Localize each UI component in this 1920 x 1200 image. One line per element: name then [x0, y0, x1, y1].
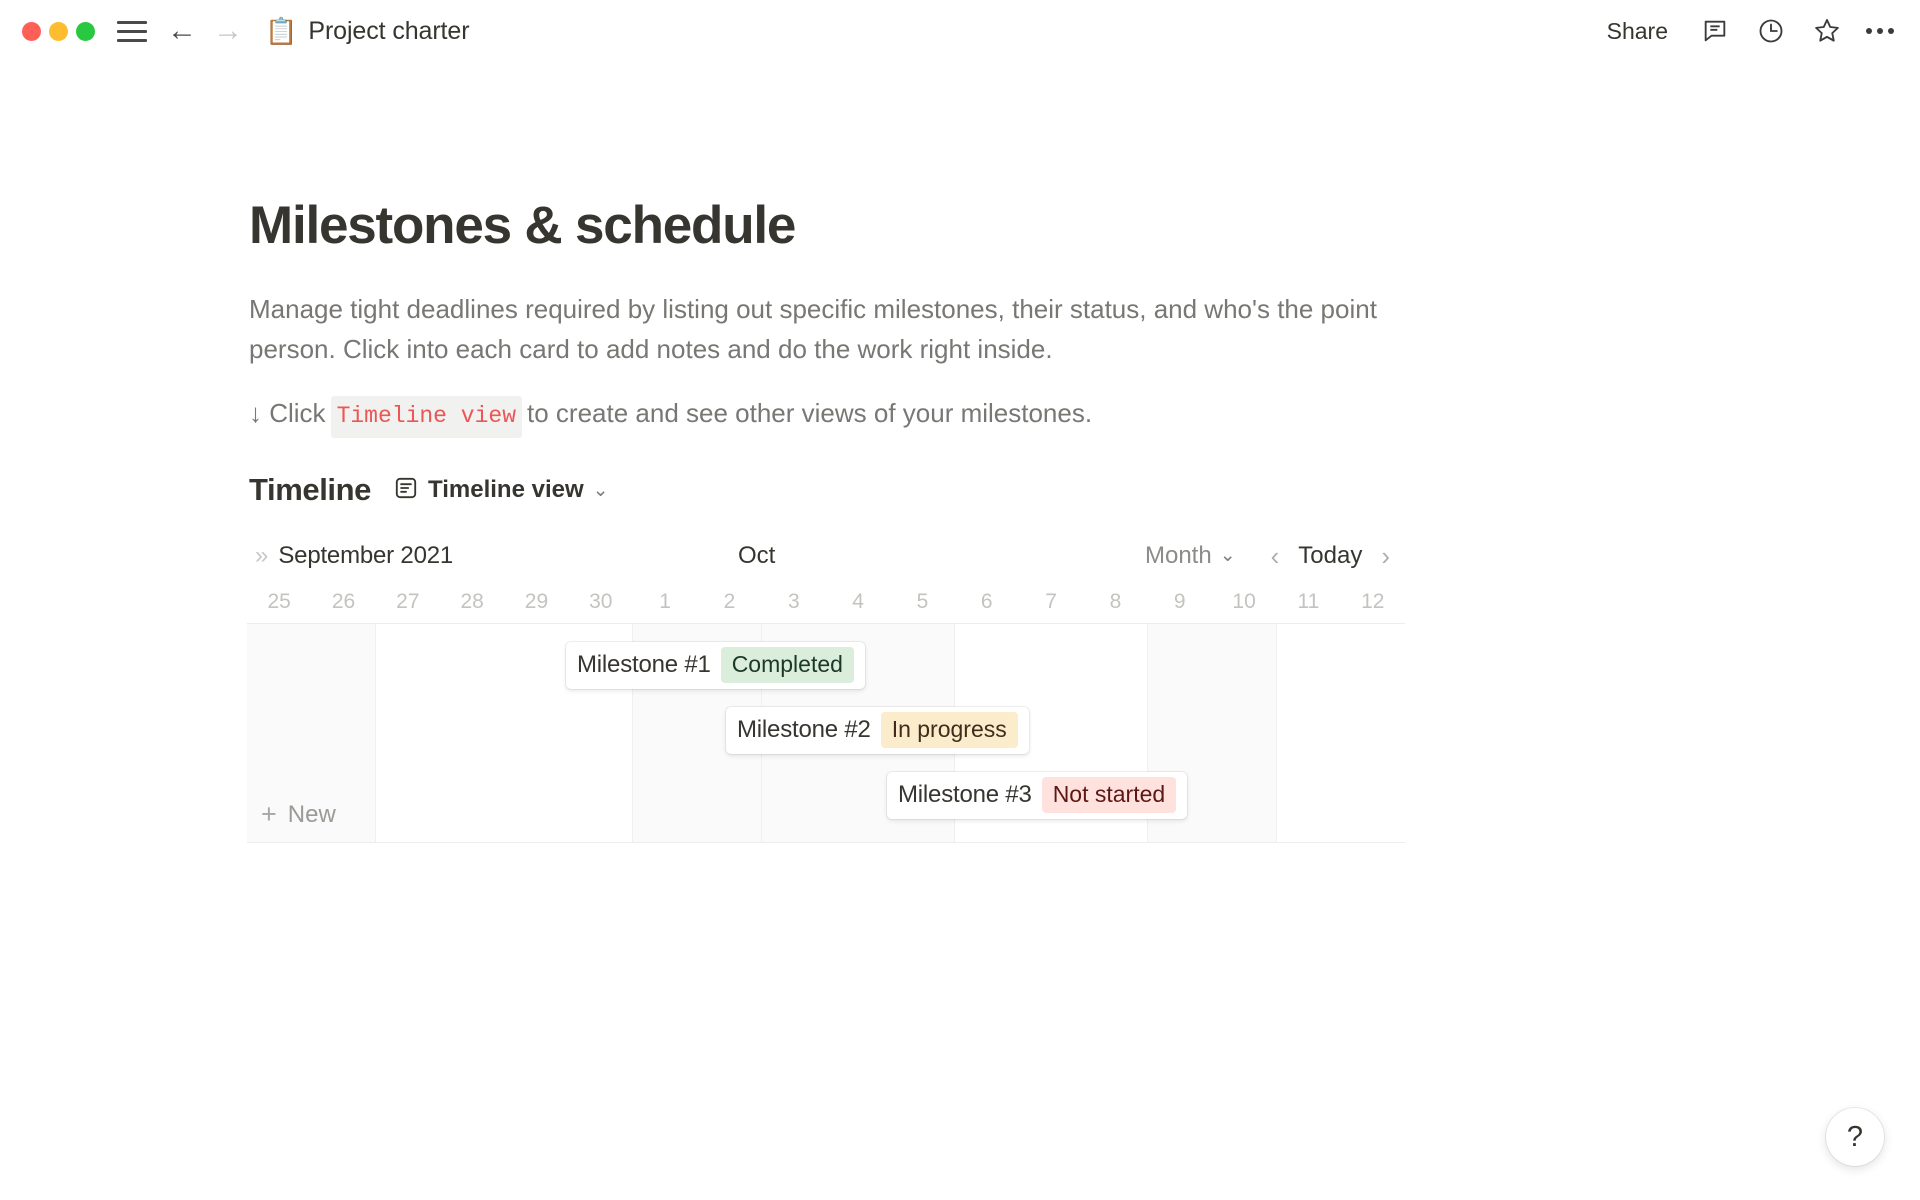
hint-line: ↓ Click Timeline view to create and see … — [249, 394, 1680, 438]
timeline-month-labels: » September 2021 Oct — [255, 542, 1145, 570]
tab-timeline-view[interactable]: Timeline view ⌄ — [389, 472, 613, 509]
timeline-view-tab-label: Timeline view — [428, 476, 584, 504]
timeline-date-cell: 26 — [311, 590, 375, 614]
timeline-date-cell: 29 — [504, 590, 568, 614]
timeline-milestone-bar[interactable]: Milestone #1Completed — [566, 642, 865, 689]
breadcrumb-document-title[interactable]: Project charter — [308, 17, 469, 46]
timeline-date-cell: 27 — [376, 590, 440, 614]
page-content-column: Milestones & schedule Manage tight deadl… — [240, 195, 1680, 843]
hint-prefix-text: ↓ Click — [249, 394, 326, 433]
milestone-name: Milestone #3 — [898, 781, 1032, 809]
timeline-date-cell: 8 — [1083, 590, 1147, 614]
timeline-date-cell: 5 — [890, 590, 954, 614]
timeline-date-cell: 6 — [955, 590, 1019, 614]
timeline-section-header: Timeline Timeline view ⌄ — [249, 472, 1680, 509]
chevron-down-icon: ⌄ — [1220, 546, 1236, 565]
timeline-date-cell: 30 — [569, 590, 633, 614]
timeline-zoom-label: Month — [1145, 542, 1212, 570]
timeline-view-icon — [393, 475, 419, 506]
timeline-date-cell: 11 — [1276, 590, 1340, 614]
previous-period-button[interactable]: ‹ — [1262, 543, 1289, 569]
new-row-label: New — [288, 801, 336, 829]
timeline-month-secondary: Oct — [738, 542, 775, 570]
traffic-lights — [22, 22, 95, 41]
window-titlebar: ← → 📋 Project charter Share — [0, 0, 1920, 62]
status-badge: Completed — [721, 647, 854, 683]
page-description: Manage tight deadlines required by listi… — [249, 290, 1399, 369]
back-arrow-icon[interactable]: ← — [167, 16, 197, 46]
chevron-down-icon: ⌄ — [593, 481, 609, 500]
close-window-button[interactable] — [22, 22, 41, 41]
maximize-window-button[interactable] — [76, 22, 95, 41]
hint-suffix-text: to create and see other views of your mi… — [527, 394, 1092, 433]
timeline-toolbar-controls: Month ⌄ ‹ Today › — [1145, 542, 1399, 570]
star-favorite-icon[interactable] — [1810, 14, 1844, 48]
share-button[interactable]: Share — [1607, 18, 1668, 45]
timeline-bars-layer: Milestone #1CompletedMilestone #2In prog… — [247, 624, 1405, 842]
section-heading-timeline: Timeline — [249, 472, 371, 508]
clipboard-icon: 📋 — [265, 18, 297, 44]
timeline-date-cell: 10 — [1212, 590, 1276, 614]
minimize-window-button[interactable] — [49, 22, 68, 41]
titlebar-actions: Share — [1607, 14, 1894, 48]
plus-icon: + — [261, 801, 277, 828]
timeline-new-row-button[interactable]: + New — [261, 801, 336, 829]
timeline-widget: » September 2021 Oct Month ⌄ ‹ Today › 2… — [247, 531, 1405, 843]
inline-code-timeline-view: Timeline view — [331, 396, 522, 438]
timeline-grid: Milestone #1CompletedMilestone #2In prog… — [247, 623, 1405, 843]
timeline-date-cell: 2 — [697, 590, 761, 614]
timeline-date-cell: 12 — [1341, 590, 1405, 614]
timeline-date-axis: 252627282930123456789101112 — [247, 581, 1405, 623]
sidebar-toggle-icon[interactable] — [117, 19, 147, 43]
timeline-month-primary: September 2021 — [278, 542, 453, 570]
timeline-date-cell: 4 — [826, 590, 890, 614]
expand-double-chevron-icon[interactable]: » — [255, 544, 265, 568]
timeline-date-cell: 3 — [762, 590, 826, 614]
page-body: Milestones & schedule Manage tight deadl… — [0, 195, 1920, 843]
timeline-date-cell: 1 — [633, 590, 697, 614]
timeline-milestone-bar[interactable]: Milestone #2In progress — [726, 707, 1029, 754]
next-period-button[interactable]: › — [1372, 543, 1399, 569]
help-button[interactable]: ? — [1826, 1108, 1884, 1166]
timeline-date-cell: 7 — [1019, 590, 1083, 614]
milestone-name: Milestone #2 — [737, 716, 871, 744]
timeline-zoom-select[interactable]: Month ⌄ — [1145, 542, 1236, 570]
more-options-icon[interactable] — [1866, 28, 1894, 34]
milestone-name: Milestone #1 — [577, 651, 711, 679]
timeline-toolbar: » September 2021 Oct Month ⌄ ‹ Today › — [247, 531, 1405, 581]
history-clock-icon[interactable] — [1754, 14, 1788, 48]
status-badge: Not started — [1042, 777, 1177, 813]
forward-arrow-icon[interactable]: → — [213, 16, 243, 46]
timeline-date-cell: 9 — [1148, 590, 1212, 614]
timeline-date-cell: 25 — [247, 590, 311, 614]
timeline-date-cell: 28 — [440, 590, 504, 614]
page-title: Milestones & schedule — [249, 195, 1680, 256]
timeline-milestone-bar[interactable]: Milestone #3Not started — [887, 772, 1187, 819]
today-button[interactable]: Today — [1288, 542, 1372, 570]
comment-icon[interactable] — [1698, 14, 1732, 48]
status-badge: In progress — [881, 712, 1018, 748]
